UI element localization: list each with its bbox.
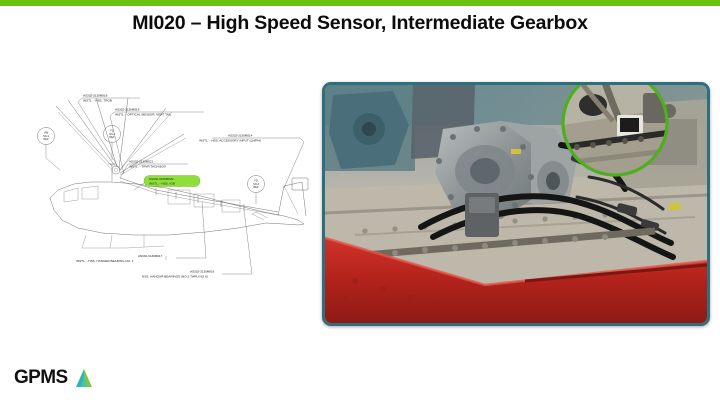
callout-optical-sensor-partnumber: AS332-3130M019 [115, 108, 140, 112]
callout-accessory-input-partnumber: AS332-3130M014 [228, 134, 253, 138]
callout-trvr-tach-partnumber: AS332-3130M021 [129, 160, 154, 164]
callout-hss-trgb-partnumber: AS332-3130M018 [83, 94, 108, 98]
callout-optical-sensor-label: INSTL. - OPTICAL SENSOR, VERT TAIL [115, 112, 172, 116]
top-accent-bar [0, 0, 720, 6]
bubble-left-line3: REF [44, 138, 49, 141]
callout-hanger-bearing1-partnumber: AS332-3130M016 [190, 270, 215, 274]
callout-hss-hangar-bearings: AS332-3130M017 INSTL. - HSS, HANGER BEAR… [76, 202, 206, 263]
callout-hangar-bearings-partnumber: AS332-3130M017 [138, 254, 163, 258]
bubble-right-line3: REF [254, 186, 259, 189]
page-title: MI020 – High Speed Sensor, Intermediate … [0, 12, 720, 35]
reference-bubble-right: FD SN-3 REF [248, 176, 265, 205]
logo-wordmark: GPMS [14, 367, 68, 389]
airframe-outline [50, 178, 308, 248]
photo-image [325, 85, 707, 323]
callout-trvr-tach-box: AS332-3130M021 INSTL. - TRVR TACH BOX [120, 160, 188, 178]
callout-hss-trgb: AS332-3130M018 INSTL. - HSS, TRGB [78, 94, 140, 170]
callout-hss-igb: AS332-3130M020 INSTL. - HSS, IGB [134, 176, 200, 191]
callout-accessory-input-label: INSTL. - HSS, ACCESSORY INPUT (LH/RH) [199, 138, 261, 142]
callout-hanger-bearing1-label: HSS, HANGAR BEARINGS (NO.2 THRU NO.6) [142, 274, 208, 278]
bubble-mid-line3: REF [110, 136, 115, 139]
callout-hss-igb-partnumber: AS332-3130M020 [149, 177, 174, 181]
callout-hangar-bearings-label: INSTL. - HSS, HANGER BEARING NO. 1 [76, 259, 134, 263]
callout-hss-igb-label: INSTL. - HSS, IGB [149, 182, 175, 186]
callout-trvr-tach-label: INSTL. - TRVR TACH BOX [129, 164, 166, 168]
technical-diagram: VIB SN-1 REF FD SN-2 REF FD SN-3 REF AS3… [16, 78, 316, 308]
callout-hss-trgb-label: INSTL. - HSS, TRGB [83, 98, 112, 102]
intermediate-gearbox-photo [322, 82, 710, 326]
reference-bubble-left: VIB SN-1 REF [38, 128, 61, 171]
gpms-logo: GPMS [14, 367, 95, 389]
callout-hss-hanger-bearing-1: AS332-3130M016 HSS, HANGAR BEARINGS (NO.… [142, 210, 252, 278]
gpms-delta-icon [73, 368, 95, 388]
callout-hss-accessory-input: AS332-3130M014 INSTL. - HSS, ACCESSORY I… [199, 134, 304, 188]
